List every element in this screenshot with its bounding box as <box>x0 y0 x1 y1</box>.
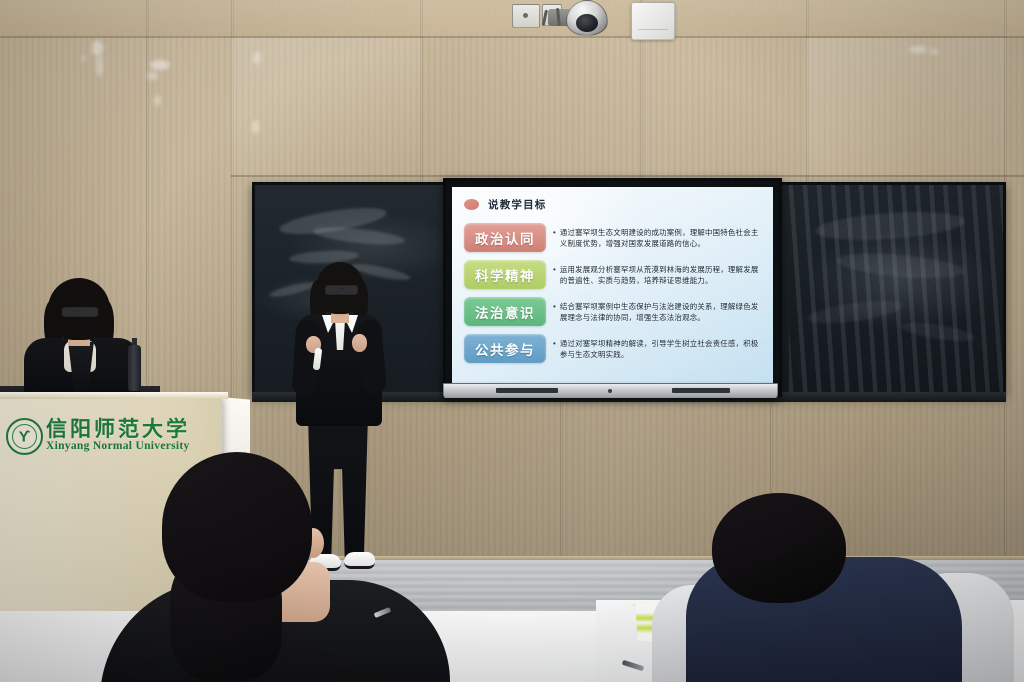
list-bullet-icon: • <box>553 264 556 275</box>
water-bottle <box>128 345 141 391</box>
objective-text: 通过塞罕坝生态文明建设的成功案例，理解中国特色社会主义制度优势，增强对国家发展道… <box>560 227 763 249</box>
wall-highlight <box>806 38 1006 175</box>
wall-glare <box>909 46 927 53</box>
wall-glare <box>252 120 259 134</box>
wall-glare <box>253 52 261 64</box>
presentation-slide: 说教学目标 政治认同 • 通过塞罕坝生态文明建设的成功案例，理解中国特色社会主义… <box>452 187 773 388</box>
student-front-left <box>110 452 440 682</box>
hand <box>352 334 367 352</box>
objective-text: 运用发展观分析塞罕坝从荒漠到林海的发展历程，理解发展的普遍性、实质与趋势，培养辩… <box>560 264 763 286</box>
objective-tag: 法治意识 <box>464 297 546 326</box>
lectern-top-edge <box>0 392 228 399</box>
wall-glare <box>81 56 86 61</box>
power-outlet-plate <box>512 4 540 28</box>
objective-row: 公共参与 • 通过对塞罕坝精神的解读，引导学生树立社会责任感，积极参与生态文明实… <box>464 332 763 365</box>
classroom-photo: 说教学目标 政治认同 • 通过塞罕坝生态文明建设的成功案例，理解中国特色社会主义… <box>0 0 1024 682</box>
glasses-icon <box>62 307 98 317</box>
list-bullet-icon: • <box>553 227 556 238</box>
hair <box>162 452 312 602</box>
wall-speaker-box <box>631 2 675 40</box>
wall-glare <box>150 60 170 70</box>
slide-title: 说教学目标 <box>488 197 547 212</box>
objective-row: 法治意识 • 结合塞罕坝案例中生态保护与法治建设的关系，理解绿色发展理念与法律的… <box>464 295 763 328</box>
objective-row: 政治认同 • 通过塞罕坝生态文明建设的成功案例，理解中国特色社会主义制度优势，增… <box>464 221 763 254</box>
objective-row: 科学精神 • 运用发展观分析塞罕坝从荒漠到林海的发展历程，理解发展的普遍性、实质… <box>464 258 763 291</box>
hair <box>712 493 846 603</box>
objective-tag: 科学精神 <box>464 260 546 289</box>
university-name-en: Xinyang Normal University <box>46 440 190 452</box>
bullet-dot-icon <box>464 199 479 210</box>
university-logo-icon: ϒ <box>6 418 43 455</box>
wall-glare <box>929 49 939 54</box>
display-bottom-bezel <box>443 383 778 398</box>
list-bullet-icon: • <box>553 338 556 349</box>
wall-glare <box>154 95 161 106</box>
camera-lens-icon <box>576 14 598 32</box>
objective-text: 结合塞罕坝案例中生态保护与法治建设的关系，理解绿色发展理念与法律的协同，增强生态… <box>560 301 763 323</box>
student-front-right <box>600 485 1024 682</box>
interactive-display[interactable]: 说教学目标 政治认同 • 通过塞罕坝生态文明建设的成功案例，理解中国特色社会主义… <box>443 178 782 397</box>
wall-glare <box>147 72 158 80</box>
wall-glare <box>92 40 103 56</box>
wall-horizontal-seam <box>231 175 1024 177</box>
objective-text: 通过对塞罕坝精神的解读，引导学生树立社会责任感，积极参与生态文明实践。 <box>560 338 763 360</box>
list-bullet-icon: • <box>553 301 556 312</box>
dome-camera-icon <box>566 0 608 36</box>
wall-glare <box>96 55 103 77</box>
objective-tag: 政治认同 <box>464 223 546 252</box>
logo-glyph: ϒ <box>19 430 31 445</box>
glasses-icon <box>325 285 358 295</box>
pen <box>622 660 644 672</box>
chalkboard-right-panel <box>789 185 1003 392</box>
university-name-cn: 信阳师范大学 <box>46 413 190 443</box>
objective-list: 政治认同 • 通过塞罕坝生态文明建设的成功案例，理解中国特色社会主义制度优势，增… <box>464 221 763 365</box>
wall-seam <box>560 389 563 559</box>
slide-header: 说教学目标 <box>464 197 547 212</box>
objective-tag: 公共参与 <box>464 334 546 363</box>
